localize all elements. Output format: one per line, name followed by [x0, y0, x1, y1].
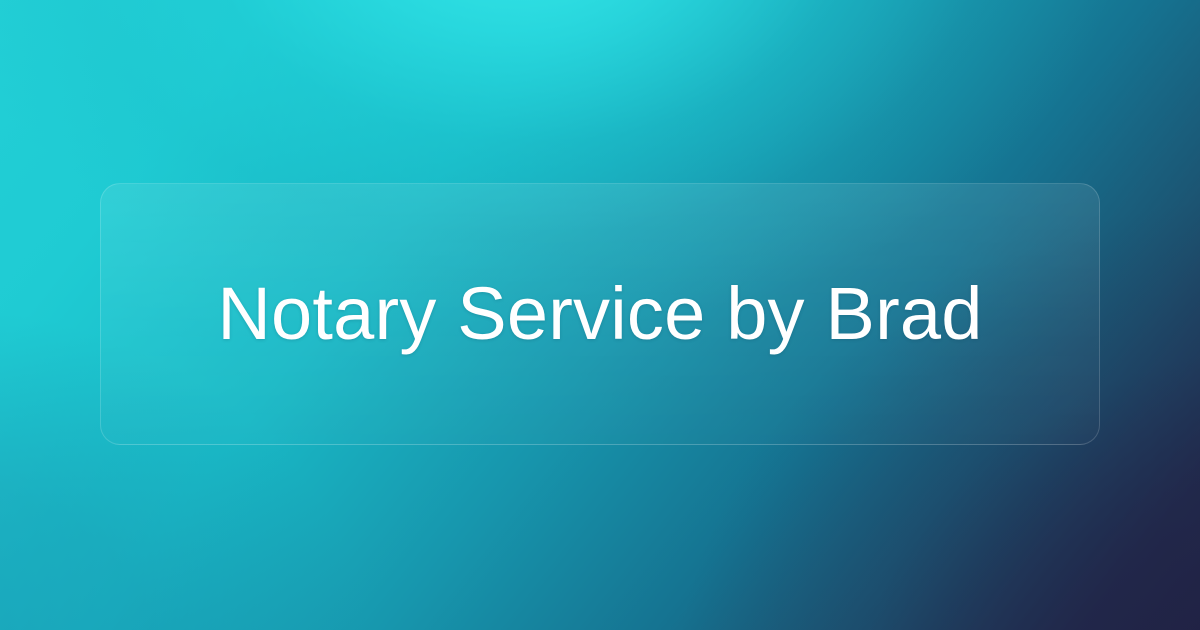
title-card: Notary Service by Brad [100, 183, 1100, 445]
page-title: Notary Service by Brad [141, 269, 1059, 359]
og-image-canvas: Notary Service by Brad [0, 0, 1200, 630]
